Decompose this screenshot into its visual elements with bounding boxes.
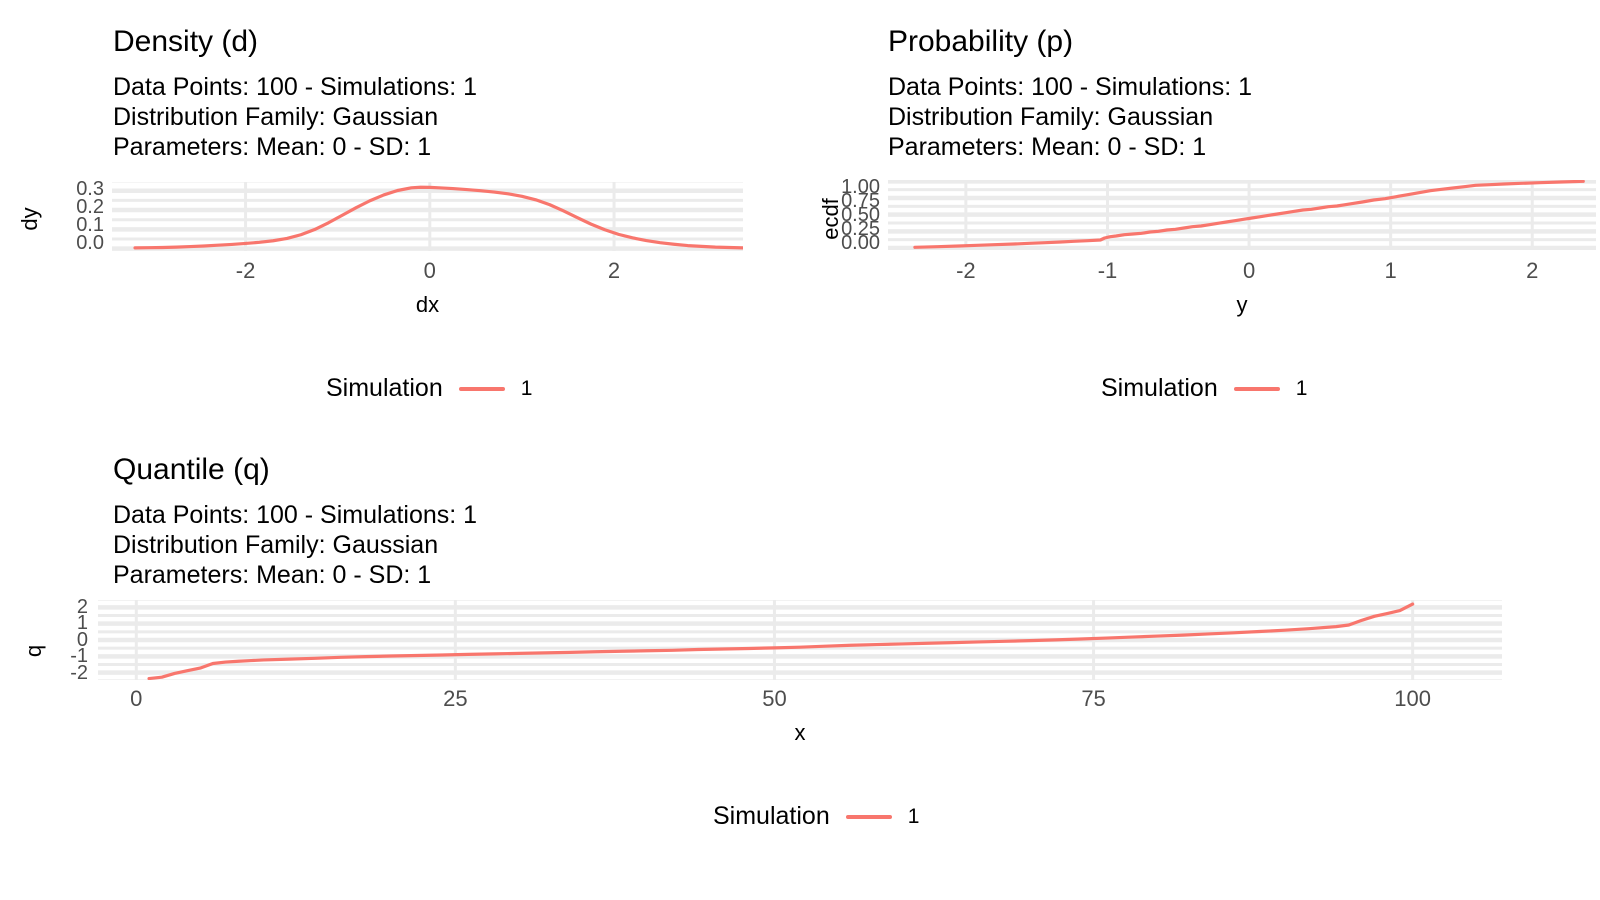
quantile-x-tick-label: 0 — [130, 686, 142, 712]
density-legend-item-label: 1 — [521, 377, 533, 401]
density-y-tick-label: 0.2 — [76, 201, 104, 213]
probability-x-tick-label: -2 — [956, 258, 976, 284]
density-y-axis-title: dy — [17, 199, 43, 239]
quantile-plot-subtitle: Data Points: 100 - Simulations: 1 Distri… — [113, 500, 477, 590]
density-plot-title: Density (d) — [113, 24, 258, 60]
quantile-y-tick-labels: 210-1-2 — [44, 601, 88, 679]
quantile-y-tick-label: -2 — [70, 667, 88, 679]
probability-panel — [888, 180, 1596, 250]
density-plot-block: Density (d) Data Points: 100 - Simulatio… — [0, 0, 800, 430]
probability-x-tick-label: -1 — [1098, 258, 1118, 284]
probability-legend-title: Simulation — [1101, 374, 1218, 403]
density-x-tick-labels: -202 — [112, 258, 743, 286]
quantile-y-tick-label: 1 — [77, 617, 88, 629]
quantile-legend-line-key — [846, 815, 892, 819]
probability-plot-block: Probability (p) Data Points: 100 - Simul… — [800, 0, 1600, 430]
quantile-x-tick-label: 75 — [1081, 686, 1105, 712]
density-x-tick-label: 2 — [608, 258, 620, 284]
density-y-tick-label: 0.3 — [76, 183, 104, 195]
quantile-x-tick-label: 100 — [1394, 686, 1431, 712]
density-legend-title: Simulation — [326, 374, 443, 403]
probability-x-tick-label: 0 — [1243, 258, 1255, 284]
chart-page: Density (d) Data Points: 100 - Simulatio… — [0, 0, 1600, 900]
probability-y-tick-labels: 1.000.750.500.250.00 — [822, 181, 880, 249]
density-x-tick-label: 0 — [424, 258, 436, 284]
quantile-plot-title: Quantile (q) — [113, 452, 270, 488]
quantile-x-tick-label: 50 — [762, 686, 786, 712]
density-x-tick-label: -2 — [236, 258, 256, 284]
quantile-panel — [98, 600, 1502, 680]
quantile-x-tick-labels: 0255075100 — [98, 686, 1502, 714]
probability-x-tick-label: 1 — [1385, 258, 1397, 284]
probability-legend: Simulation 1 — [1101, 374, 1307, 403]
density-x-axis-title: dx — [112, 292, 743, 318]
density-legend: Simulation 1 — [326, 374, 532, 403]
probability-legend-item-label: 1 — [1296, 377, 1308, 401]
quantile-x-axis-title: x — [98, 720, 1502, 746]
density-panel — [112, 182, 743, 251]
quantile-legend-title: Simulation — [713, 802, 830, 831]
probability-y-tick-label: 0.00 — [841, 237, 880, 249]
density-legend-line-key — [459, 387, 505, 391]
quantile-x-tick-label: 25 — [443, 686, 467, 712]
quantile-y-tick-label: -1 — [70, 650, 88, 662]
probability-x-tick-labels: -2-1012 — [888, 258, 1596, 286]
probability-plot-svg — [888, 180, 1596, 250]
probability-plot-subtitle: Data Points: 100 - Simulations: 1 Distri… — [888, 72, 1252, 162]
density-y-tick-label: 0.1 — [76, 219, 104, 231]
quantile-legend: Simulation 1 — [713, 802, 919, 831]
density-y-tick-labels: 0.30.20.10.0 — [52, 183, 104, 249]
probability-legend-line-key — [1234, 387, 1280, 391]
quantile-plot-svg — [98, 600, 1502, 680]
density-y-tick-label: 0.0 — [76, 237, 104, 249]
probability-x-tick-label: 2 — [1526, 258, 1538, 284]
probability-x-axis-title: y — [888, 292, 1596, 318]
density-plot-subtitle: Data Points: 100 - Simulations: 1 Distri… — [113, 72, 477, 162]
density-plot-svg — [112, 182, 743, 251]
quantile-plot-block: Quantile (q) Data Points: 100 - Simulati… — [0, 430, 1600, 900]
probability-plot-title: Probability (p) — [888, 24, 1073, 60]
quantile-legend-item-label: 1 — [908, 805, 920, 829]
